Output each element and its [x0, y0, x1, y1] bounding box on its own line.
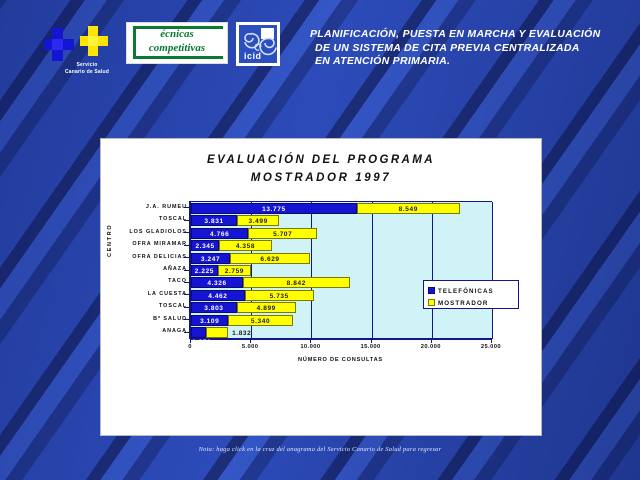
bar-value-label: 3.109: [192, 316, 227, 327]
bar-value-label: 4.358: [220, 241, 270, 252]
bar-segment-mostrador[interactable]: 4.899: [237, 302, 296, 313]
scs-caption-line-2: Canario de Salud: [44, 69, 130, 76]
y-axis-label: OFRA MIRAMAR: [103, 240, 187, 249]
chart-panel: EVALUACIÓN DEL PROGRAMA MOSTRADOR 1997 C…: [100, 138, 542, 436]
bar-value-label: 3.247: [192, 254, 229, 265]
y-axis-label: TOSCAL: [103, 215, 187, 224]
y-axis-label: AÑAZA: [103, 265, 187, 274]
header-title-line-1: PLANIFICACIÓN, PUESTA EN MARCHA Y EVALUA…: [310, 28, 640, 42]
bar-value-label: 5.735: [246, 291, 313, 302]
legend-label-mostrador: MOSTRADOR: [438, 300, 488, 307]
y-axis-label: LA CUESTA: [103, 290, 187, 299]
bar-value-label: 2.759: [219, 266, 250, 277]
x-axis-line: [190, 338, 492, 339]
header-banner: Servicio Canario de Salud écnicas compet…: [0, 0, 640, 100]
legend-label-telefonicas: TELEFÓNICAS: [438, 288, 494, 295]
x-axis-tick: [431, 338, 432, 343]
bar-value-label: 8.549: [358, 204, 459, 215]
bar-value-label: 2.225: [192, 266, 217, 277]
header-title: PLANIFICACIÓN, PUESTA EN MARCHA Y EVALUA…: [310, 28, 640, 69]
y-axis-label: J.A. RUMEU: [103, 203, 187, 212]
x-axis-label: 0: [170, 344, 210, 350]
y-axis-label: TOSCAL: [103, 302, 187, 311]
y-axis-labels: J.A. RUMEUTOSCALLOS GLADIOLOSOFRA MIRAMA…: [101, 201, 187, 339]
x-axis-label: 20.000: [411, 344, 451, 350]
footer-note: Nota: haga click en la cruz del anagrama…: [0, 446, 640, 453]
bar-segment-mostrador[interactable]: 8.842: [243, 277, 349, 288]
bar-segment-mostrador[interactable]: 3.499: [237, 215, 279, 226]
chart-title: EVALUACIÓN DEL PROGRAMA MOSTRADOR 1997: [101, 151, 541, 187]
bar-value-label: 2.345: [192, 241, 218, 252]
bar-row[interactable]: 3.8313.499: [191, 215, 492, 226]
scs-logo-caption: Servicio Canario de Salud: [44, 62, 130, 75]
tc-bottom-bar: [133, 56, 223, 59]
icid-square: icid: [239, 25, 277, 63]
bar-segment-mostrador[interactable]: 8.549: [357, 203, 460, 214]
x-axis-tick: [371, 338, 372, 343]
icid-logo[interactable]: icid: [236, 22, 280, 66]
chart-title-line-1: EVALUACIÓN DEL PROGRAMA: [101, 151, 541, 169]
chart-legend: TELEFÓNICAS MOSTRADOR: [423, 280, 519, 309]
y-axis-label: OFRA DELICIAS: [103, 253, 187, 262]
bar-value-label: 5.340: [229, 316, 291, 327]
legend-swatch-mostrador: [428, 299, 435, 306]
bar-value-label: 6.629: [231, 254, 309, 265]
bar-segment-telefonicas[interactable]: 4.326: [191, 277, 243, 288]
x-axis-label: 15.000: [351, 344, 391, 350]
bar-segment-telefonicas[interactable]: 4.462: [191, 290, 245, 301]
bar-value-label: 3.831: [192, 216, 236, 227]
bar-value-label: 4.462: [192, 291, 244, 302]
bar-segment-telefonicas[interactable]: 1.251: [191, 327, 206, 338]
legend-item-mostrador[interactable]: MOSTRADOR: [428, 295, 488, 306]
y-axis-label: ANAGA: [103, 327, 187, 336]
x-axis-title: NÚMERO DE CONSULTAS: [190, 357, 491, 363]
icid-label: icid: [244, 51, 262, 61]
bar-segment-mostrador[interactable]: 6.629: [230, 253, 310, 264]
x-axis-tick: [190, 338, 191, 343]
bar-segment-mostrador[interactable]: 1.832: [206, 327, 228, 338]
header-title-line-2: DE UN SISTEMA DE CITA PREVIA CENTRALIZAD…: [310, 42, 640, 56]
x-axis-label: 5.000: [230, 344, 270, 350]
bar-row[interactable]: 13.7758.549: [191, 203, 492, 214]
bar-value-label: 8.842: [244, 278, 348, 289]
bar-row[interactable]: 1.2511.832: [191, 327, 492, 338]
bar-segment-mostrador[interactable]: 5.707: [248, 228, 317, 239]
x-axis-tick: [491, 338, 492, 343]
plot-area: 13.7758.5493.8313.4994.7665.7072.3454.35…: [190, 201, 492, 340]
legend-swatch-telefonicas: [428, 287, 435, 294]
bar-segment-telefonicas[interactable]: 2.225: [191, 265, 218, 276]
header-title-line-3: EN ATENCIÓN PRIMARIA.: [310, 55, 640, 69]
bar-value-label: 4.899: [238, 303, 295, 314]
bar-row[interactable]: 2.3454.358: [191, 240, 492, 251]
bar-value-label: 4.766: [192, 229, 247, 240]
tecnicas-competitivas-logo[interactable]: écnicas competitivas: [126, 22, 228, 64]
gridline: [492, 202, 493, 339]
x-axis-label: 25.000: [471, 344, 511, 350]
bar-value-label: 3.803: [192, 303, 236, 314]
bar-segment-telefonicas[interactable]: 3.109: [191, 315, 228, 326]
bar-value-label: 13.775: [192, 204, 356, 215]
bar-segment-telefonicas[interactable]: 3.247: [191, 253, 230, 264]
bar-segment-telefonicas[interactable]: 4.766: [191, 228, 248, 239]
bar-segment-telefonicas[interactable]: 3.831: [191, 215, 237, 226]
bar-row[interactable]: 2.2252.759: [191, 265, 492, 276]
bar-value-label: 3.499: [238, 216, 278, 227]
y-axis-label: LOS GLADIOLOS: [103, 228, 187, 237]
tecnicas-label: écnicas: [127, 28, 227, 40]
x-axis-tick: [310, 338, 311, 343]
y-axis-label: Bº SALUD: [103, 315, 187, 324]
bar-row[interactable]: 3.2476.629: [191, 253, 492, 264]
legend-item-telefonicas[interactable]: TELEFÓNICAS: [428, 283, 494, 294]
bar-segment-mostrador[interactable]: 5.340: [228, 315, 292, 326]
competitivas-label: competitivas: [127, 42, 227, 54]
bar-row[interactable]: 4.7665.707: [191, 228, 492, 239]
bar-segment-mostrador[interactable]: 5.735: [245, 290, 314, 301]
bar-segment-telefonicas[interactable]: 13.775: [191, 203, 357, 214]
x-axis-label: 10.000: [290, 344, 330, 350]
y-axis-label: TACO: [103, 277, 187, 286]
bar-segment-telefonicas[interactable]: 2.345: [191, 240, 219, 251]
bar-value-label: 4.326: [192, 278, 242, 289]
bar-value-label: 5.707: [249, 229, 316, 240]
bar-row[interactable]: 3.1095.340: [191, 315, 492, 326]
chart-subtitle: MOSTRADOR 1997: [101, 169, 541, 187]
x-axis-tick: [250, 338, 251, 343]
bar-segment-mostrador[interactable]: 4.358: [219, 240, 271, 251]
bar-segment-telefonicas[interactable]: 3.803: [191, 302, 237, 313]
bar-segment-mostrador[interactable]: 2.759: [218, 265, 251, 276]
